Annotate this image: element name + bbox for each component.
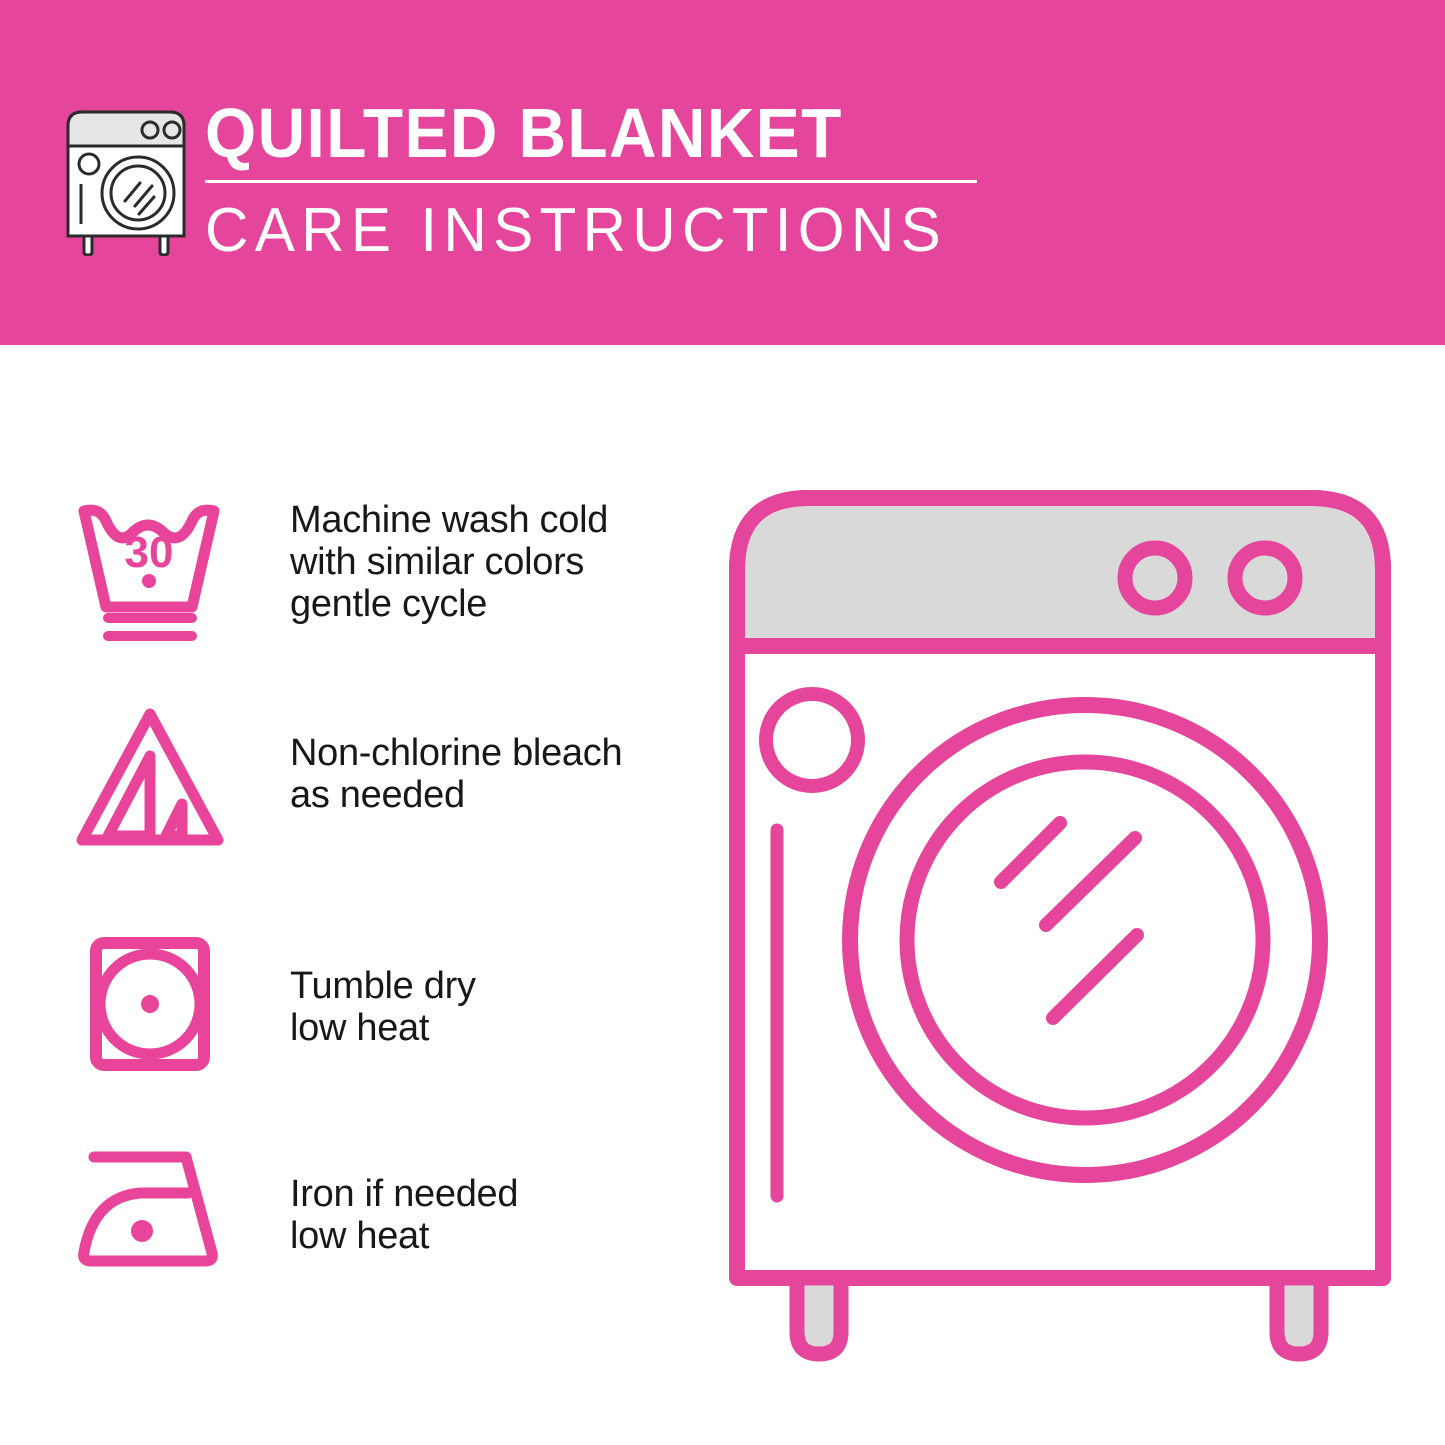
care-label-bleach: Non-chlorine bleach as needed <box>290 732 622 816</box>
header-banner: QUILTED BLANKET CARE INSTRUCTIONS <box>0 0 1445 345</box>
washing-machine-logo-icon <box>62 104 190 256</box>
bleach-triangle-nonchlorine-icon <box>70 700 230 860</box>
iron-low-icon <box>70 1135 230 1295</box>
leg-right <box>1277 1278 1321 1354</box>
care-label-tumble-dry: Tumble dry low heat <box>290 965 476 1049</box>
wash-tub-30-gentle-icon: 30 <box>70 485 230 645</box>
care-line: Tumble dry <box>290 965 476 1007</box>
page-subtitle: CARE INSTRUCTIONS <box>205 197 981 265</box>
care-instruction-list: 30 Machine wash cold with similar colors… <box>0 345 700 1445</box>
leg-left <box>797 1278 841 1354</box>
care-line: Iron if needed <box>290 1173 518 1215</box>
svg-text:30: 30 <box>125 528 174 577</box>
care-instructions-page: QUILTED BLANKET CARE INSTRUCTIONS 30 <box>0 0 1445 1445</box>
care-label-iron: Iron if needed low heat <box>290 1173 518 1257</box>
care-line: with similar colors <box>290 541 608 583</box>
care-line: Non-chlorine bleach <box>290 732 622 774</box>
care-label-machine-wash: Machine wash cold with similar colors ge… <box>290 499 608 625</box>
tumble-dry-low-icon <box>70 925 230 1085</box>
title-divider <box>205 180 977 183</box>
care-line: low heat <box>290 1007 476 1049</box>
header-title-block: QUILTED BLANKET CARE INSTRUCTIONS <box>205 96 1005 265</box>
washing-machine-illustration <box>715 470 1405 1370</box>
page-title: QUILTED BLANKET <box>205 96 957 170</box>
care-line: gentle cycle <box>290 583 608 625</box>
care-line: Machine wash cold <box>290 499 608 541</box>
care-line: as needed <box>290 774 622 816</box>
care-line: low heat <box>290 1215 518 1257</box>
